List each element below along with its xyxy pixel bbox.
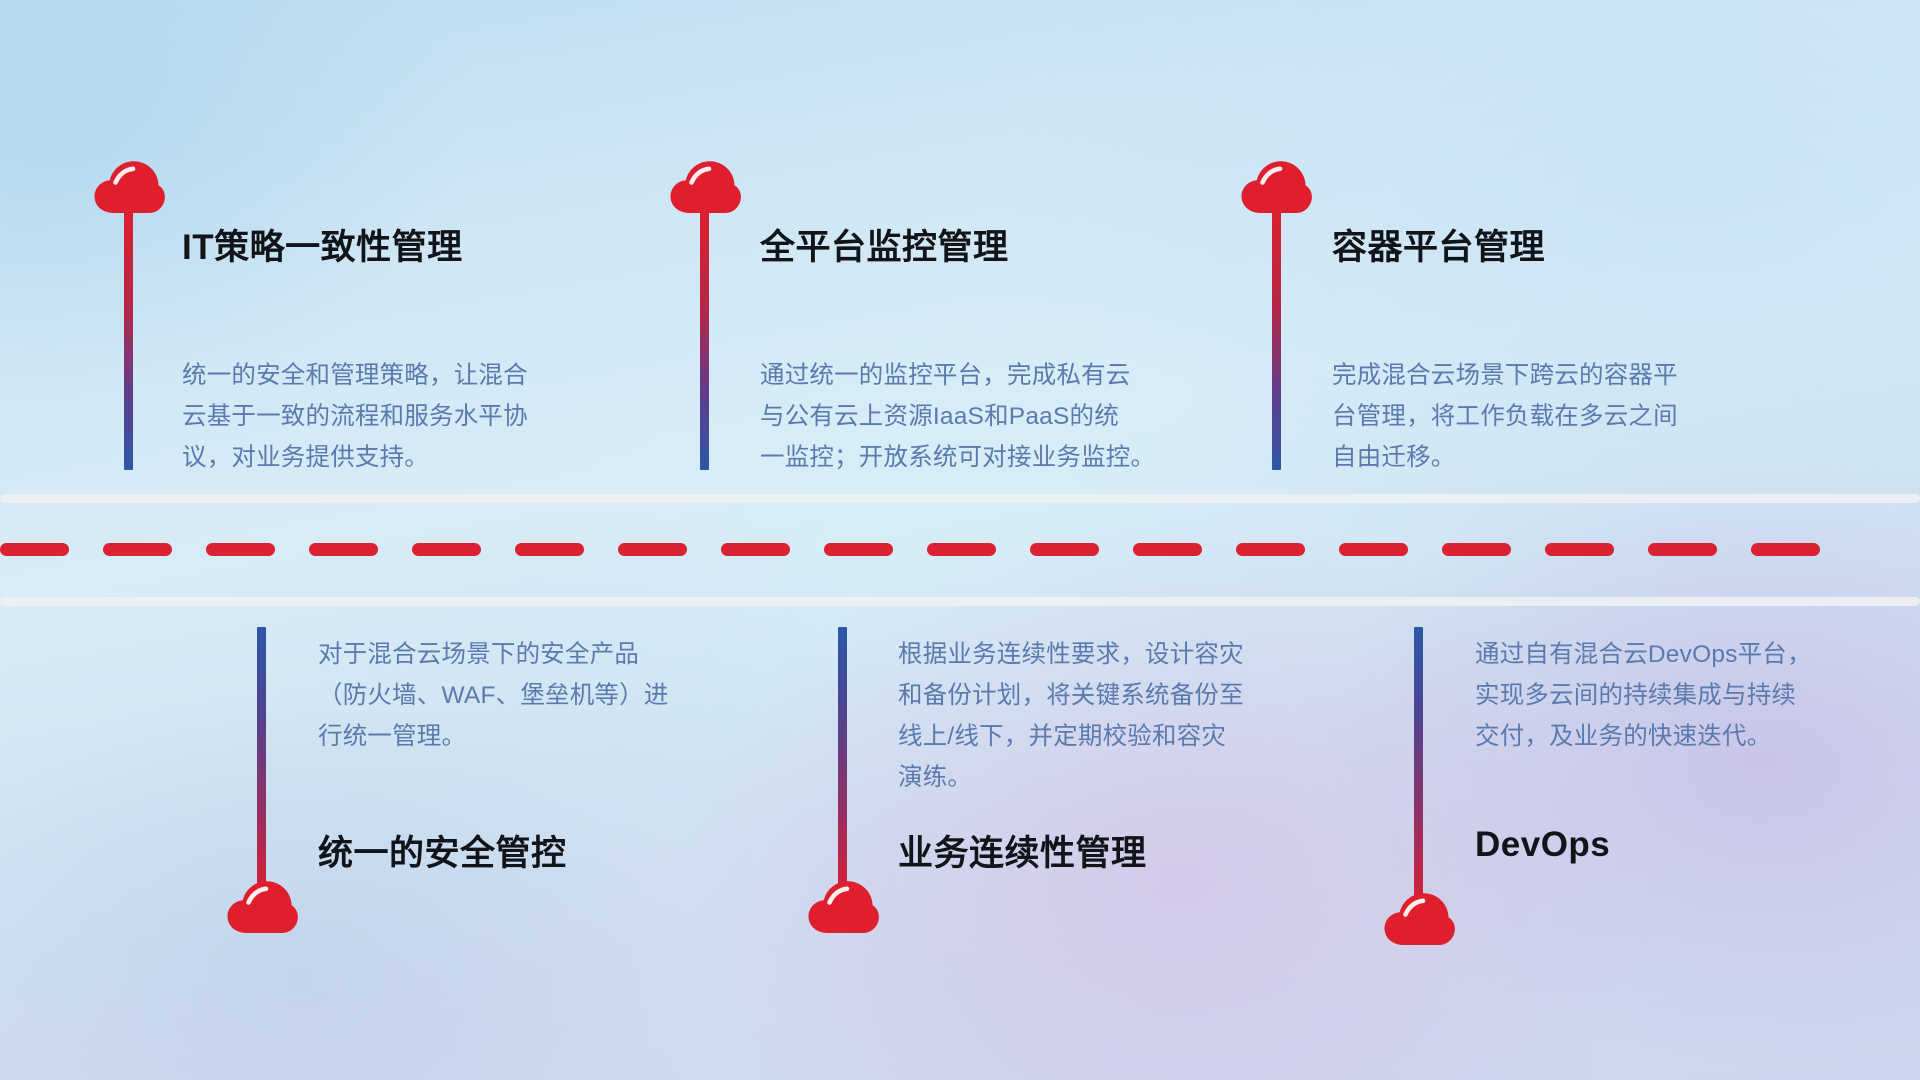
road-dash-segment: [1030, 543, 1099, 556]
road-dash-segment: [206, 543, 275, 556]
body-line: 通过自有混合云DevOps平台，: [1475, 634, 1812, 675]
road-dash-segment: [1133, 543, 1202, 556]
body-line: 对于混合云场景下的安全产品: [318, 634, 669, 675]
pin-body: 根据业务连续性要求，设计容灾和备份计划，将关键系统备份至线上/线下，并定期校验和…: [898, 634, 1244, 798]
body-line: 统一的安全和管理策略，让混合: [182, 355, 528, 396]
pin-stem: [257, 627, 266, 885]
road-dash-segment: [412, 543, 481, 556]
road-dash-segment: [1545, 543, 1614, 556]
body-line: 议，对业务提供支持。: [182, 437, 528, 478]
pin-stem: [124, 208, 133, 470]
pin-heading: 业务连续性管理: [898, 825, 1147, 876]
road-center-dashes: [0, 543, 1920, 556]
road-edge-top: [0, 494, 1920, 503]
pin-heading: 全平台监控管理: [760, 219, 1009, 270]
body-line: 自由迁移。: [1332, 437, 1678, 478]
body-line: 和备份计划，将关键系统备份至: [898, 675, 1244, 716]
body-line: 台管理，将工作负载在多云之间: [1332, 396, 1678, 437]
body-line: 交付，及业务的快速迭代。: [1475, 716, 1812, 757]
body-line: 通过统一的监控平台，完成私有云: [760, 355, 1155, 396]
pin-stem: [1414, 627, 1423, 897]
road-dash-segment: [721, 543, 790, 556]
road-edge-bottom: [0, 597, 1920, 606]
pin-body: 完成混合云场景下跨云的容器平台管理，将工作负载在多云之间自由迁移。: [1332, 355, 1678, 478]
cloud-icon: [807, 880, 879, 934]
pin-stem: [1272, 208, 1281, 470]
road-dash-segment: [309, 543, 378, 556]
road-dash-segment: [824, 543, 893, 556]
road-dash-segment: [1339, 543, 1408, 556]
pin-body: 对于混合云场景下的安全产品（防火墙、WAF、堡垒机等）进行统一管理。: [318, 634, 669, 757]
pin-stem: [700, 208, 709, 470]
road-dash-segment: [1751, 543, 1820, 556]
cloud-icon: [669, 160, 741, 214]
body-line: 根据业务连续性要求，设计容灾: [898, 634, 1244, 675]
road-dash-segment: [0, 543, 69, 556]
body-line: 演练。: [898, 757, 1244, 798]
body-line: 线上/线下，并定期校验和容灾: [898, 716, 1244, 757]
body-line: （防火墙、WAF、堡垒机等）进: [318, 675, 669, 716]
pin-body: 通过自有混合云DevOps平台，实现多云间的持续集成与持续交付，及业务的快速迭代…: [1475, 634, 1812, 757]
body-line: 一监控；开放系统可对接业务监控。: [760, 437, 1155, 478]
road-dash-segment: [618, 543, 687, 556]
pin-body: 通过统一的监控平台，完成私有云与公有云上资源IaaS和PaaS的统一监控；开放系…: [760, 355, 1155, 478]
road-dash-segment: [515, 543, 584, 556]
road-dash-segment: [927, 543, 996, 556]
cloud-icon: [1240, 160, 1312, 214]
pin-heading: IT策略一致性管理: [182, 219, 463, 270]
cloud-icon: [226, 880, 298, 934]
body-line: 行统一管理。: [318, 716, 669, 757]
pin-heading: 统一的安全管控: [318, 825, 567, 876]
body-line: 完成混合云场景下跨云的容器平: [1332, 355, 1678, 396]
road-dash-segment: [1648, 543, 1717, 556]
body-line: 云基于一致的流程和服务水平协: [182, 396, 528, 437]
pin-stem: [838, 627, 847, 885]
pin-heading: 容器平台管理: [1332, 219, 1545, 270]
pin-heading: DevOps: [1475, 825, 1610, 865]
road-dash-segment: [103, 543, 172, 556]
road-dash-segment: [1236, 543, 1305, 556]
body-line: 与公有云上资源IaaS和PaaS的统: [760, 396, 1155, 437]
body-line: 实现多云间的持续集成与持续: [1475, 675, 1812, 716]
road-dash-segment: [1442, 543, 1511, 556]
cloud-icon: [1383, 892, 1455, 946]
cloud-icon: [93, 160, 165, 214]
infographic-canvas: IT策略一致性管理 统一的安全和管理策略，让混合云基于一致的流程和服务水平协议，…: [0, 0, 1920, 1080]
pin-body: 统一的安全和管理策略，让混合云基于一致的流程和服务水平协议，对业务提供支持。: [182, 355, 528, 478]
